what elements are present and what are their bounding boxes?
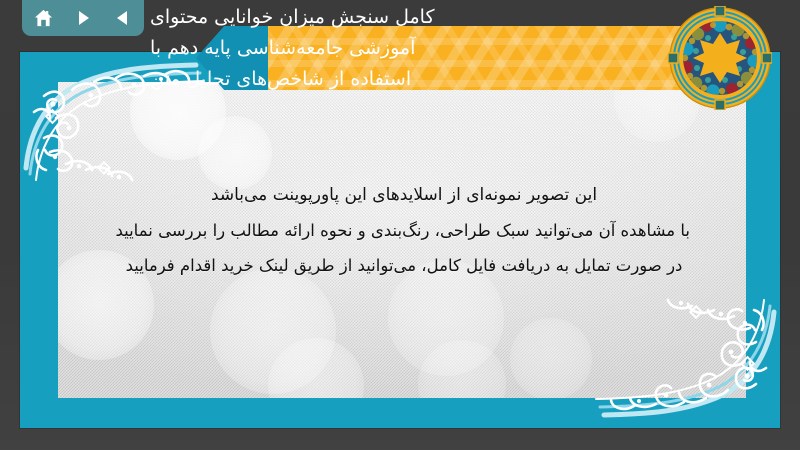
title-banner: [268, 26, 723, 90]
persian-medallion-ornament: [668, 6, 772, 110]
bokeh-circle: [510, 318, 592, 398]
banner-band: [268, 60, 723, 67]
banner-band: [268, 80, 723, 87]
slide-canvas: این تصویر نمونه‌ای از اسلایدهای این پاور…: [58, 82, 746, 398]
home-button[interactable]: [30, 5, 56, 31]
previous-slide-button[interactable]: [110, 5, 136, 31]
slide-navigation-bar: [22, 0, 144, 36]
banner-band: [268, 38, 723, 45]
body-line-3: در صورت تمایل به دریافت فایل کامل، می‌تو…: [118, 248, 690, 283]
body-line-1: این تصویر نمونه‌ای از اسلایدهای این پاور…: [118, 178, 690, 213]
slide-body-text: این تصویر نمونه‌ای از اسلایدهای این پاور…: [118, 178, 690, 283]
next-slide-button[interactable]: [70, 5, 96, 31]
slide-viewer: این تصویر نمونه‌ای از اسلایدهای این پاور…: [0, 0, 800, 450]
body-line-2: با مشاهده آن می‌توانید سبک طراحی، رنگ‌بن…: [118, 213, 690, 248]
slide-frame: این تصویر نمونه‌ای از اسلایدهای این پاور…: [20, 52, 780, 428]
